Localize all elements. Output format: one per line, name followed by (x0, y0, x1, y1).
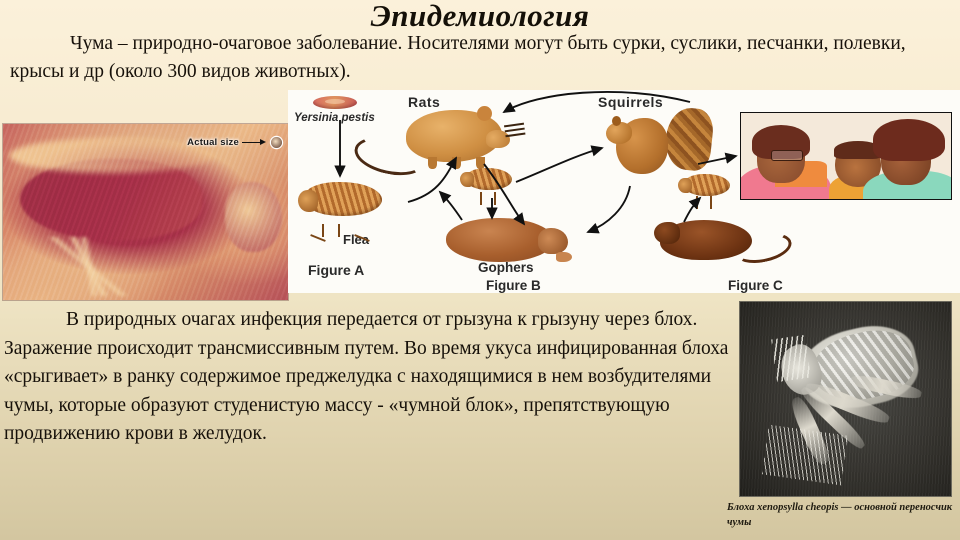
actual-size-dot-icon (271, 137, 282, 148)
adult-right-figure (857, 125, 952, 200)
plague-transmission-cycle-diagram: Yersinia pestis Rats Squirrels Flea Goph… (288, 90, 960, 293)
sem-flea-photo (740, 302, 951, 496)
figure-c-humans-photo (740, 112, 952, 200)
flea-macro-photo: Actual size (3, 124, 288, 300)
actual-size-label: Actual size (187, 137, 239, 148)
slide-canvas: Эпидемиология Чума – природно-очаговое з… (0, 0, 960, 540)
sem-photo-caption: Блоха xenopsylla cheopis — основной пере… (727, 500, 955, 530)
body-paragraph: В природных очагах инфекция передается о… (4, 306, 744, 449)
sem-flea-comb (771, 335, 810, 382)
actual-size-annotation: Actual size (187, 137, 282, 148)
intro-paragraph: Чума – природно-очаговое заболевание. Но… (10, 30, 945, 86)
arrow-right-icon (242, 139, 268, 146)
adult-left-figure (740, 127, 831, 200)
page-title: Эпидемиология (0, 0, 960, 34)
flea-photo-texture (3, 124, 288, 300)
